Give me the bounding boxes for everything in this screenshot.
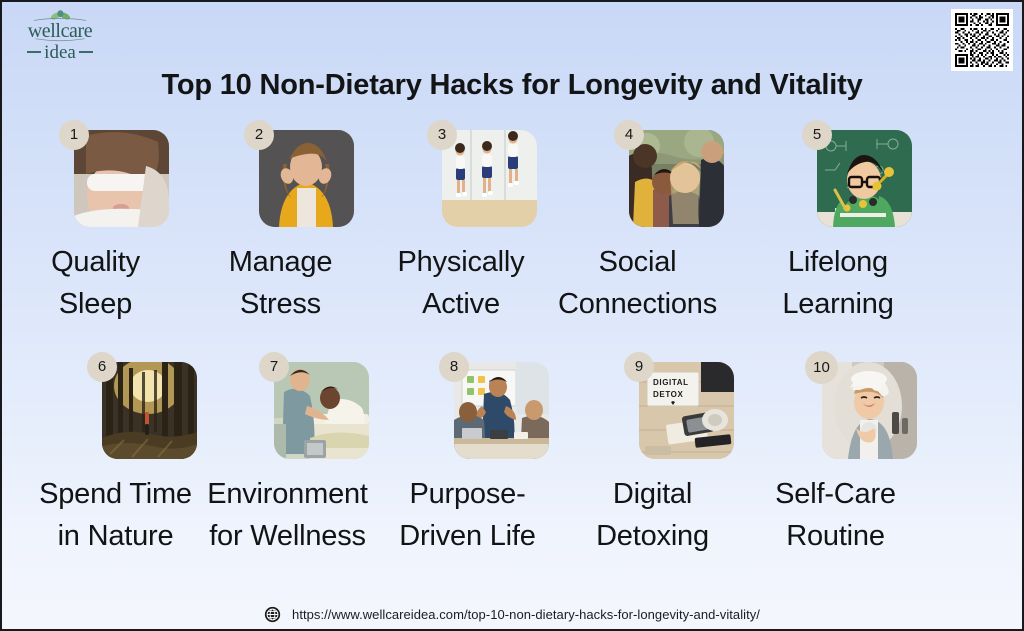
- detox-photo: DIGITAL DETOX: [639, 362, 734, 459]
- active-photo: [442, 130, 537, 227]
- hack-thumb-wrap-9: DIGITAL DETOX 9: [639, 362, 734, 459]
- hack-badge-6: 6: [87, 352, 117, 382]
- hack-thumb-wrap-7: 7: [274, 362, 369, 459]
- wellness-photo: [274, 362, 369, 459]
- hack-thumb-wrap-5: 5: [817, 130, 912, 227]
- infographic-canvas: wellcare idea: [0, 0, 1024, 631]
- hack-card-5[interactable]: 5 Lifelong Learning: [817, 130, 912, 326]
- nature-photo: [102, 362, 197, 459]
- footer-source: https://www.wellcareidea.com/top-10-non-…: [2, 606, 1022, 623]
- hack-badge-10: 10: [805, 351, 838, 384]
- hack-badge-5: 5: [802, 120, 832, 150]
- logo-rule-left: [27, 51, 41, 53]
- hack-thumb-wrap-3: 3: [442, 130, 537, 227]
- page-title: Top 10 Non-Dietary Hacks for Longevity a…: [2, 69, 1022, 102]
- hack-badge-3: 3: [427, 120, 457, 150]
- hacks-grid: 1 Quality Sleep: [2, 130, 1022, 594]
- hacks-row-1: 1 Quality Sleep: [2, 130, 1022, 362]
- qr-code-icon[interactable]: [951, 9, 1013, 71]
- hack-label-2: Manage Stress: [181, 242, 381, 326]
- stress-photo: [259, 130, 354, 227]
- hack-label-10: Self-Care Routine: [721, 474, 951, 558]
- logo-subwordmark: idea: [44, 43, 76, 62]
- svg-text:DIGITAL: DIGITAL: [653, 378, 689, 387]
- hack-thumb-wrap-2: 2: [259, 130, 354, 227]
- hack-badge-4: 4: [614, 120, 644, 150]
- hack-thumb-wrap-10: 10: [822, 362, 917, 459]
- hacks-row-2: 6 Spend Time in Nature: [2, 362, 1022, 594]
- purpose-photo: [454, 362, 549, 459]
- logo-subwordmark-row: idea: [27, 43, 93, 62]
- footer-url-text[interactable]: https://www.wellcareidea.com/top-10-non-…: [292, 607, 760, 622]
- hack-card-1[interactable]: 1 Quality Sleep: [74, 130, 169, 326]
- hack-card-2[interactable]: 2 Manage Stress: [259, 130, 354, 326]
- sleep-photo: [74, 130, 169, 227]
- learning-photo: [817, 130, 912, 227]
- hack-card-4[interactable]: 4 Social Connections: [629, 130, 724, 326]
- hack-badge-8: 8: [439, 352, 469, 382]
- svg-text:DETOX: DETOX: [653, 390, 683, 399]
- hack-badge-1: 1: [59, 120, 89, 150]
- hack-label-4: Social Connections: [513, 242, 763, 326]
- hack-label-5: Lifelong Learning: [738, 242, 938, 326]
- brand-logo: wellcare idea: [12, 10, 108, 62]
- hack-badge-9: 9: [624, 352, 654, 382]
- hack-card-10[interactable]: 10 Self-Care Routine: [822, 362, 917, 558]
- selfcare-photo: [822, 362, 917, 459]
- social-photo: [629, 130, 724, 227]
- hack-label-1: Quality Sleep: [0, 242, 196, 326]
- hack-badge-2: 2: [244, 120, 274, 150]
- hack-thumb-wrap-4: 4: [629, 130, 724, 227]
- hack-thumb-wrap-6: 6: [102, 362, 197, 459]
- hack-card-8[interactable]: 8 Purpose- Driven Life: [454, 362, 549, 558]
- hack-thumb-wrap-1: 1: [74, 130, 169, 227]
- logo-rule-right: [79, 51, 93, 53]
- hack-thumb-wrap-8: 8: [454, 362, 549, 459]
- globe-icon: [264, 606, 281, 623]
- hack-badge-7: 7: [259, 352, 289, 382]
- qr-code-matrix: [955, 13, 1009, 67]
